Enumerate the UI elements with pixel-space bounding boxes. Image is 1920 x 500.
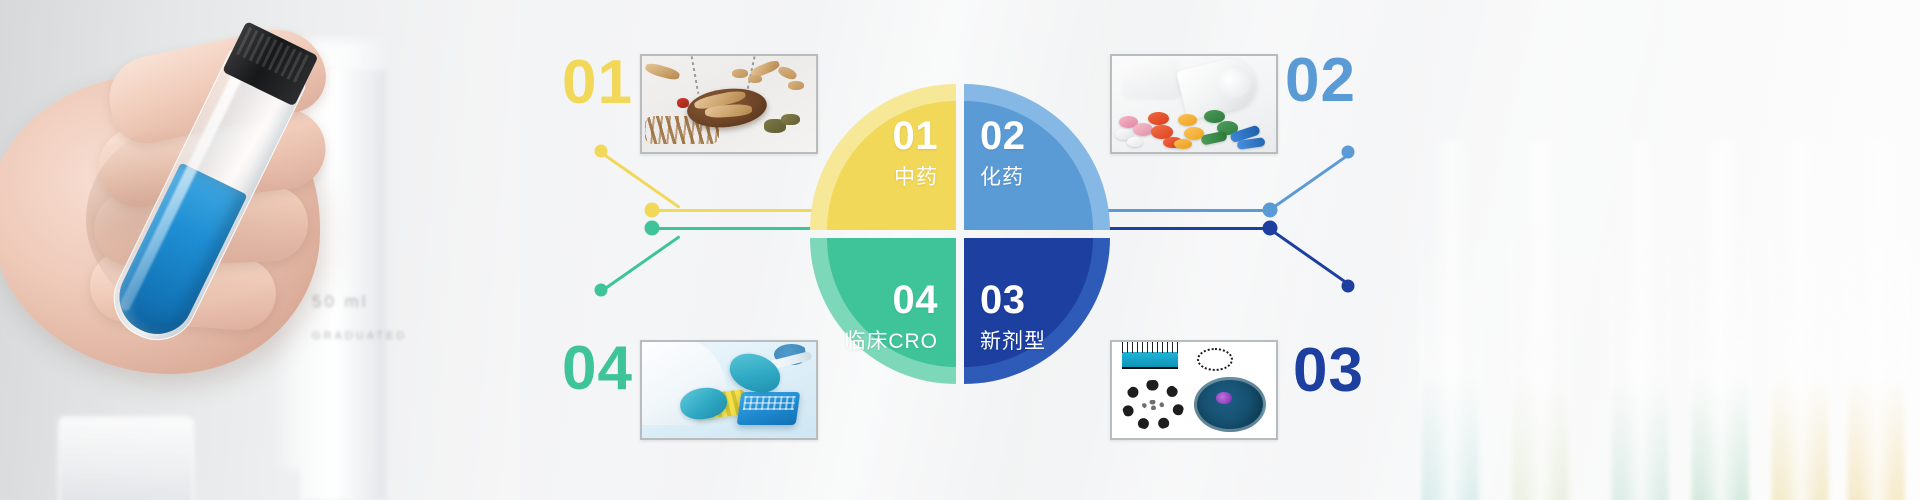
lab-pipetting-image xyxy=(642,342,816,438)
connector-line-01-diagonal xyxy=(600,151,680,209)
pill-red-1 xyxy=(1148,112,1169,125)
wheel-segment-02[interactable]: 02 化药 xyxy=(964,84,1110,230)
marker-label-03: 03 xyxy=(1293,340,1364,402)
connector-dot-03-outer xyxy=(1342,280,1355,293)
segment-01-number: 01 xyxy=(893,116,939,156)
herbal-medicine-image xyxy=(642,56,816,152)
wheel-segment-03[interactable]: 03 新剂型 xyxy=(964,238,1110,384)
segment-03-label: 03 新剂型 xyxy=(964,238,1110,384)
thumbnail-03-formulation-diagram[interactable] xyxy=(1110,340,1278,440)
herb-cluster-2 xyxy=(781,114,800,126)
capsule-green xyxy=(1200,130,1228,145)
marker-label-04: 04 xyxy=(562,338,633,400)
connector-line-02-diagonal xyxy=(1268,154,1348,212)
connector-dot-03-junction xyxy=(1263,221,1278,236)
connector-dot-04-outer xyxy=(595,284,608,297)
marker-label-01: 01 xyxy=(562,52,633,114)
red-berry xyxy=(677,98,689,108)
blue-tip-rack xyxy=(737,392,801,425)
wheel-segment-04[interactable]: 04 临床CRO xyxy=(810,238,956,384)
micelle-diagram-small xyxy=(1197,348,1233,371)
connector-line-03-diagonal xyxy=(1268,227,1348,285)
pill-orange-1 xyxy=(1178,114,1198,126)
quadrant-wheel: 01 中药 02 化药 04 临床CRO xyxy=(810,84,1110,384)
lipid-film-diagram xyxy=(1122,352,1178,369)
background-bottle xyxy=(1122,58,1181,100)
pill-pink-2 xyxy=(1133,123,1153,135)
segment-04-name: 临床CRO xyxy=(844,331,938,352)
herb-slice-4 xyxy=(788,81,804,90)
infographic: 01 02 03 04 xyxy=(0,0,1920,500)
connector-dot-02-outer xyxy=(1342,146,1355,159)
segment-01-name: 中药 xyxy=(894,167,938,188)
herb-slice-1 xyxy=(732,69,748,78)
pill-orange-3 xyxy=(1174,139,1192,150)
formulation-diagram-image xyxy=(1112,342,1276,438)
segment-04-number: 04 xyxy=(893,280,939,320)
pills-image xyxy=(1112,56,1276,152)
marker-label-02: 02 xyxy=(1285,50,1356,112)
scale-chain-left xyxy=(691,56,700,94)
connector-dot-01-outer xyxy=(595,145,608,158)
ginseng-root-3 xyxy=(645,61,681,81)
nanoparticle-3d-diagram xyxy=(1194,377,1266,433)
segment-02-label: 02 化药 xyxy=(964,84,1110,230)
connector-dot-04-junction xyxy=(645,221,660,236)
segment-03-number: 03 xyxy=(980,280,1026,320)
banner-root: 50 ml GRADUATED xyxy=(0,0,1920,500)
segment-01-label: 01 中药 xyxy=(810,84,956,230)
liposome-bilayer-diagram xyxy=(1122,380,1184,430)
segment-02-name: 化药 xyxy=(980,167,1024,188)
wheel-segment-01[interactable]: 01 中药 xyxy=(810,84,956,230)
connector-dot-02-junction xyxy=(1263,203,1278,218)
thumbnail-01-herbal-medicine[interactable] xyxy=(640,54,818,154)
pill-white-2 xyxy=(1127,137,1143,148)
thumbnail-04-lab-pipetting[interactable] xyxy=(640,340,818,440)
connector-dot-01-junction xyxy=(645,203,660,218)
herb-slice-2 xyxy=(748,75,762,83)
segment-04-label: 04 临床CRO xyxy=(810,238,956,384)
thumbnail-02-pills[interactable] xyxy=(1110,54,1278,154)
connector-line-04-diagonal xyxy=(600,235,680,293)
herb-slice-3 xyxy=(777,64,798,81)
segment-03-name: 新剂型 xyxy=(980,331,1046,352)
segment-02-number: 02 xyxy=(980,116,1026,156)
